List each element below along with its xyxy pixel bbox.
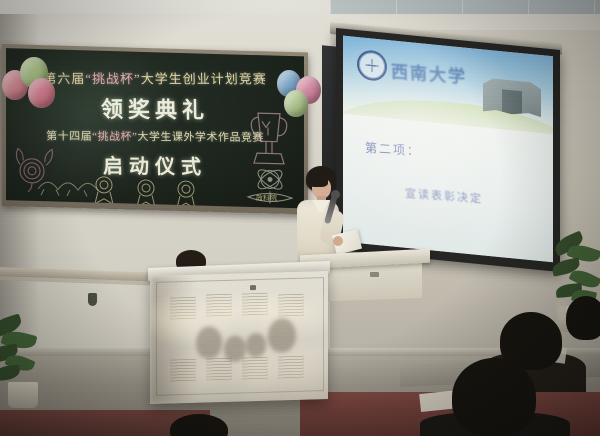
cabinet-louver [206, 358, 232, 381]
cabinet-louver [206, 294, 232, 317]
cabinet-louver [170, 359, 196, 382]
cabinet-louver [278, 356, 304, 379]
blackboard-line-1-highlight: “挑战杯” [85, 71, 141, 86]
photo-scene: 第六届“挑战杯”大学生创业计划竞赛 领奖典礼 第十四届“挑战杯”大学生课外学术作… [0, 0, 600, 436]
cabinet-louver [170, 297, 196, 320]
presenter [288, 166, 348, 262]
audience-head [452, 358, 536, 436]
lectern-table-handle [370, 272, 379, 277]
cabinet-lock-icon [250, 285, 256, 290]
presenter-hand [333, 236, 343, 246]
blackboard-line-3: 第十四届“挑战杯”大学生课外学术作品竞赛 [6, 127, 304, 145]
audience-head [566, 296, 600, 340]
blackboard: 第六届“挑战杯”大学生创业计划竞赛 领奖典礼 第十四届“挑战杯”大学生课外学术作… [6, 48, 304, 208]
blackboard-line-3-pre: 第十四届 [46, 131, 92, 143]
blackboard-line-3-post: 大学生课外学术作品竞赛 [137, 131, 264, 144]
blackboard-text: 第六届“挑战杯”大学生创业计划竞赛 领奖典礼 第十四届“挑战杯”大学生课外学术作… [6, 48, 304, 208]
presenter-fringe [306, 174, 328, 187]
audience-head-shadow [224, 335, 246, 362]
cabinet-louver [242, 293, 268, 316]
audience-head-shadow [246, 333, 266, 358]
equipment-cabinet [150, 271, 328, 404]
cup-on-desk [556, 300, 566, 316]
audience-head-shadow [268, 318, 296, 353]
blackboard-signature: 政科院 [256, 193, 277, 204]
wall-hook-icon [88, 293, 97, 306]
slide-line-1: 第二项： [365, 139, 422, 160]
balloon-right-green [284, 90, 308, 117]
blackboard-line-1-post: 大学生创业计划竞赛 [141, 71, 267, 86]
plant-pot [8, 382, 38, 408]
projector-screen: 西南大学 第二项： 宣读表彰决定 [343, 36, 553, 263]
balloon-left-pink-2 [28, 78, 55, 108]
plant-leaf [0, 365, 21, 382]
blackboard-line-3-highlight: “挑战杯” [92, 131, 138, 143]
potted-plant-left [0, 300, 58, 410]
cabinet-louver [278, 294, 304, 317]
projector-screen-frame: 西南大学 第二项： 宣读表彰决定 [336, 28, 560, 272]
blackboard-line-4: 启动仪式 [6, 149, 304, 181]
microphone-head-icon [331, 190, 340, 199]
cabinet-side-shadow [150, 275, 196, 404]
cabinet-louver [242, 357, 268, 380]
audience-head-shadow [196, 326, 222, 359]
